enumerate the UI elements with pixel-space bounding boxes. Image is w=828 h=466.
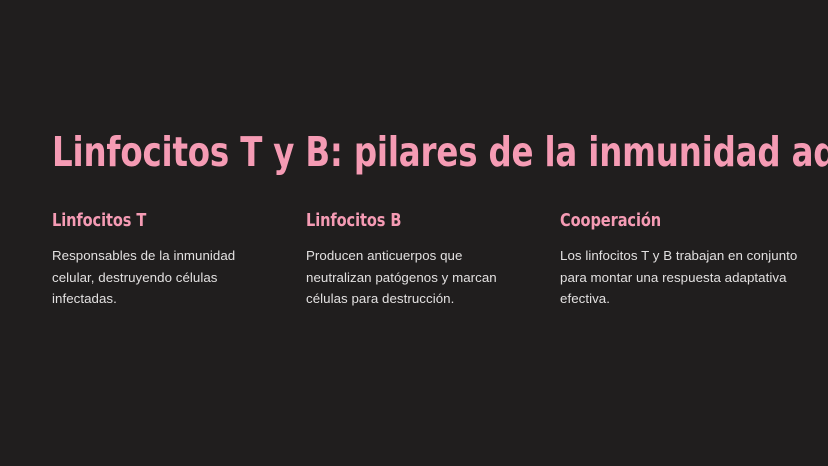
column-body-linfocitos-t: Responsables de la inmunidad celular, de… (52, 245, 262, 310)
page-title: Linfocitos T y B: pilares de la inmunida… (52, 130, 694, 174)
column-body-linfocitos-b: Producen anticuerpos que neutralizan pat… (306, 245, 516, 310)
column-heading-cooperacion: Cooperación (560, 211, 789, 231)
column-heading-linfocitos-b: Linfocitos B (306, 211, 495, 231)
columns-container: Linfocitos T Responsables de la inmunida… (52, 211, 776, 310)
slide-canvas: Linfocitos T y B: pilares de la inmunida… (0, 0, 828, 466)
column-body-cooperacion: Los linfocitos T y B trabajan en conjunt… (560, 245, 814, 310)
column-cooperacion: Cooperación Los linfocitos T y B trabaja… (560, 211, 814, 310)
column-heading-linfocitos-t: Linfocitos T (52, 211, 241, 231)
column-linfocitos-b: Linfocitos B Producen anticuerpos que ne… (306, 211, 560, 310)
column-linfocitos-t: Linfocitos T Responsables de la inmunida… (52, 211, 306, 310)
